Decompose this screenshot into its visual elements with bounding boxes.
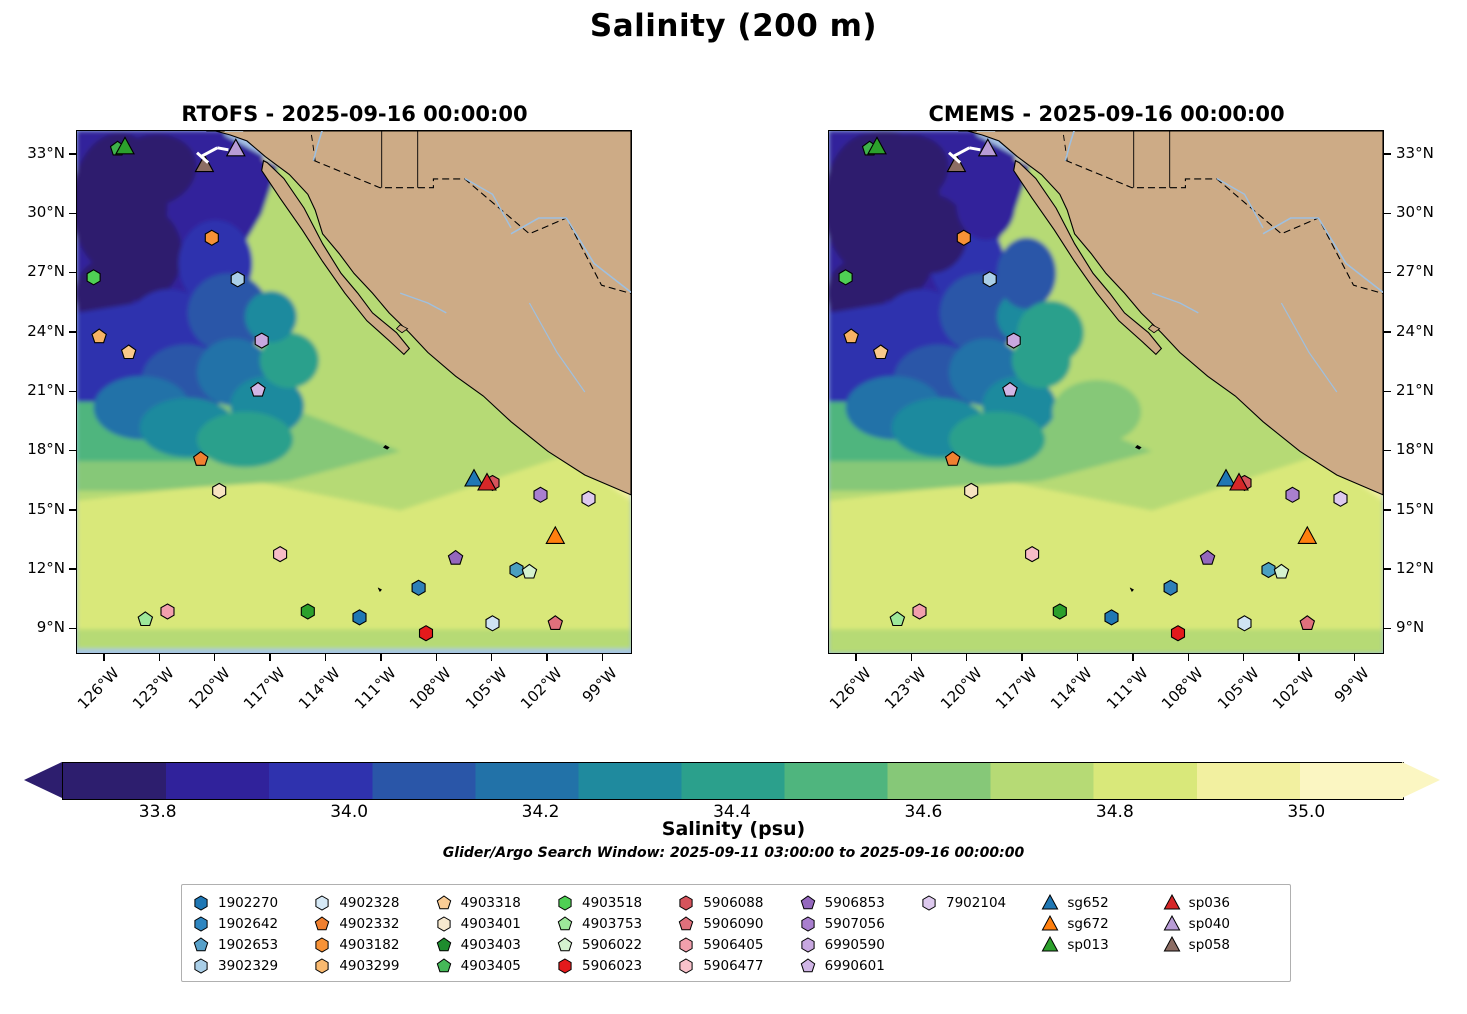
legend-item-label: 4903403 <box>461 937 521 953</box>
x-tick-label: 120°W <box>930 664 985 719</box>
y-tickmark <box>1384 331 1391 332</box>
legend-item-label: sp036 <box>1189 895 1230 911</box>
map-marker-4903182[interactable] <box>957 230 970 245</box>
legend-marker-hexagon-icon <box>675 936 697 954</box>
x-tickmark <box>1243 654 1244 661</box>
legend-item[interactable]: 6990590 <box>797 936 918 954</box>
y-tickmark <box>1384 628 1391 629</box>
legend-item[interactable]: 4903753 <box>554 915 675 933</box>
legend-marker-triangle-icon <box>1161 915 1183 933</box>
legend-item[interactable]: 4903182 <box>311 936 432 954</box>
map-marker-4903401[interactable] <box>965 483 978 498</box>
legend-item[interactable]: 5906088 <box>675 894 796 912</box>
legend-item[interactable]: 5906022 <box>554 936 675 954</box>
map-marker-1902270[interactable] <box>353 610 366 625</box>
x-tick-label: 120°W <box>178 664 233 719</box>
y-tick-label: 12°N <box>1396 559 1434 577</box>
map-marker-3902329[interactable] <box>231 272 244 287</box>
legend-item[interactable]: 1902642 <box>190 915 311 933</box>
legend-item[interactable]: 4902332 <box>311 915 432 933</box>
legend-item[interactable]: sp036 <box>1161 894 1282 912</box>
x-tick-label: 111°W <box>1096 664 1151 719</box>
legend-marker-pentagon-icon <box>554 915 576 933</box>
legend-marker-hexagon-icon <box>918 894 940 912</box>
x-tickmark <box>546 654 547 661</box>
legend-grid: 1902270190264219026533902329490232849023… <box>190 892 1282 976</box>
map-marker-1902642[interactable] <box>412 580 425 595</box>
legend-item[interactable]: 4903518 <box>554 894 675 912</box>
legend-item-label: 1902270 <box>218 895 278 911</box>
legend-marker-pentagon-icon <box>433 957 455 975</box>
x-tick-label: 114°W <box>289 664 344 719</box>
map-marker-4903403[interactable] <box>301 604 314 619</box>
legend-item[interactable]: 1902653 <box>190 936 311 954</box>
legend-marker-pentagon-icon <box>554 936 576 954</box>
map-marker-4903518[interactable] <box>839 270 852 285</box>
y-tickmark <box>1384 509 1391 510</box>
y-tickmark <box>1384 391 1391 392</box>
legend-item-label: 5906022 <box>582 937 642 953</box>
panel-title-cmems: CMEMS - 2025-09-16 00:00:00 <box>828 102 1385 126</box>
x-tick-label: 111°W <box>344 664 399 719</box>
y-tick-label: 24°N <box>1396 322 1434 340</box>
legend-marker-hexagon-icon <box>190 894 212 912</box>
y-tick-label: 9°N <box>1396 618 1424 636</box>
legend-item-label: 5906090 <box>703 916 763 932</box>
map-marker-4903401[interactable] <box>213 483 226 498</box>
y-tick-label: 27°N <box>27 262 65 280</box>
y-tick-label: 18°N <box>27 440 65 458</box>
legend-item[interactable]: 6990601 <box>797 957 918 975</box>
legend-item-label: 5906477 <box>703 958 763 974</box>
legend-item[interactable]: sp013 <box>1039 936 1160 954</box>
legend-item-label: 5906088 <box>703 895 763 911</box>
glider-track <box>217 148 228 150</box>
x-tick-label: 117°W <box>985 664 1040 719</box>
legend-item[interactable]: 4903318 <box>433 894 554 912</box>
legend-item-label: 4903753 <box>582 916 642 932</box>
y-tickmark <box>69 153 76 154</box>
map-marker-5906405[interactable] <box>161 604 174 619</box>
legend-item[interactable]: 4903405 <box>433 957 554 975</box>
legend-item-label: 5907056 <box>825 916 885 932</box>
y-tickmark <box>69 568 76 569</box>
legend-item-label: 4902328 <box>339 895 399 911</box>
legend-item-label: 4903401 <box>461 916 521 932</box>
y-tickmark <box>1384 272 1391 273</box>
x-tickmark <box>491 654 492 661</box>
x-tick-label: 108°W <box>400 664 455 719</box>
colorbar-extend-max <box>1402 762 1440 798</box>
x-tick-label: 117°W <box>233 664 288 719</box>
legend-item-label: 7902104 <box>946 895 1006 911</box>
page-title: Salinity (200 m) <box>0 8 1467 44</box>
y-tick-label: 33°N <box>27 144 65 162</box>
legend-item[interactable]: 4903401 <box>433 915 554 933</box>
map-rtofs[interactable] <box>76 130 632 654</box>
legend-item[interactable]: 5906477 <box>675 957 796 975</box>
legend-item-label: 6990601 <box>825 958 885 974</box>
legend-marker-triangle-icon <box>1161 894 1183 912</box>
legend-item[interactable]: 5906405 <box>675 936 796 954</box>
x-tickmark <box>214 654 215 661</box>
map-marker-1902642[interactable] <box>1164 580 1177 595</box>
legend-item-label: 4903182 <box>339 937 399 953</box>
legend-marker-hexagon-icon <box>554 894 576 912</box>
panel-rtofs: RTOFS - 2025-09-16 00:00:00 33°N30°N27°N… <box>76 130 633 655</box>
legend-item[interactable]: 4902328 <box>311 894 432 912</box>
legend-marker-pentagon-icon <box>433 894 455 912</box>
search-window-caption: Glider/Argo Search Window: 2025-09-11 03… <box>0 845 1467 861</box>
legend-marker-hexagon-icon <box>190 957 212 975</box>
legend-marker-hexagon-icon <box>797 936 819 954</box>
y-tickmark <box>69 509 76 510</box>
y-tickmark <box>69 391 76 392</box>
map-marker-4902328[interactable] <box>486 616 499 631</box>
legend-item[interactable]: sp040 <box>1161 915 1282 933</box>
legend-item-label: sg652 <box>1067 895 1108 911</box>
x-tick-label: 99°W <box>1318 664 1373 719</box>
legend-item-label: 4902332 <box>339 916 399 932</box>
x-tickmark <box>1132 654 1133 661</box>
y-tickmark <box>69 272 76 273</box>
x-tickmark <box>911 654 912 661</box>
x-tick-label: 105°W <box>1207 664 1262 719</box>
x-tickmark <box>1298 654 1299 661</box>
legend-marker-pentagon-icon <box>190 936 212 954</box>
x-tick-label: 108°W <box>1152 664 1207 719</box>
salinity-field <box>829 131 1383 653</box>
map-marker-5906477[interactable] <box>274 547 287 562</box>
legend-item-label: 4903299 <box>339 958 399 974</box>
legend-marker-pentagon-icon <box>797 894 819 912</box>
y-tick-label: 24°N <box>27 322 65 340</box>
panel-cmems: CMEMS - 2025-09-16 00:00:00 33°N30°N27°N… <box>828 130 1385 655</box>
y-tickmark <box>69 450 76 451</box>
legend-marker-pentagon-icon <box>311 915 333 933</box>
x-tickmark <box>380 654 381 661</box>
y-tick-label: 33°N <box>1396 144 1434 162</box>
legend-marker-triangle-icon <box>1039 894 1061 912</box>
map-marker-1902653[interactable] <box>1262 563 1275 578</box>
legend-marker-hexagon-icon <box>311 936 333 954</box>
legend: 1902270190264219026533902329490232849023… <box>181 884 1291 982</box>
legend-marker-hexagon-icon <box>675 894 697 912</box>
y-tickmark <box>1384 450 1391 451</box>
x-tickmark <box>966 654 967 661</box>
x-tickmark <box>1188 654 1189 661</box>
map-marker-5906023[interactable] <box>1172 626 1185 641</box>
legend-marker-pentagon-icon <box>433 936 455 954</box>
legend-marker-hexagon-icon <box>797 915 819 933</box>
map-marker-4903403[interactable] <box>1053 604 1066 619</box>
y-tick-label: 30°N <box>1396 203 1434 221</box>
x-tickmark <box>103 654 104 661</box>
map-marker-4903518[interactable] <box>87 270 100 285</box>
legend-item-label: 1902642 <box>218 916 278 932</box>
legend-marker-hexagon-icon <box>311 894 333 912</box>
map-cmems[interactable] <box>828 130 1384 654</box>
legend-item-label: sg672 <box>1067 916 1108 932</box>
glider-track <box>969 148 980 150</box>
colorbar-title: Salinity (psu) <box>0 818 1467 840</box>
y-tick-label: 18°N <box>1396 440 1434 458</box>
y-tickmark <box>69 331 76 332</box>
map-marker-7902104[interactable] <box>1334 491 1347 506</box>
legend-item[interactable]: 7902104 <box>918 894 1039 912</box>
legend-marker-hexagon-icon <box>554 957 576 975</box>
map-marker-1902270[interactable] <box>1105 610 1118 625</box>
x-tickmark <box>436 654 437 661</box>
legend-marker-pentagon-icon <box>797 957 819 975</box>
x-tickmark <box>602 654 603 661</box>
legend-marker-hexagon-icon <box>311 957 333 975</box>
legend-marker-hexagon-icon <box>675 957 697 975</box>
map-marker-5906477[interactable] <box>1026 547 1039 562</box>
legend-item-label: 5906405 <box>703 937 763 953</box>
legend-item-label: 4903405 <box>461 958 521 974</box>
x-tick-label: 102°W <box>1262 664 1317 719</box>
legend-marker-triangle-icon <box>1039 936 1061 954</box>
y-tickmark <box>69 213 76 214</box>
colorbar: 33.834.034.234.434.634.835.0 <box>22 762 1442 804</box>
x-tick-label: 126°W <box>819 664 874 719</box>
legend-item[interactable]: 5907056 <box>797 915 918 933</box>
map-marker-7902104[interactable] <box>582 491 595 506</box>
legend-item-label: sp040 <box>1189 916 1230 932</box>
map-marker-4903182[interactable] <box>205 230 218 245</box>
legend-item[interactable]: 5906853 <box>797 894 918 912</box>
y-tick-label: 12°N <box>27 559 65 577</box>
x-tick-label: 105°W <box>455 664 510 719</box>
legend-item-label: sp013 <box>1067 937 1108 953</box>
map-marker-6990590[interactable] <box>1007 333 1020 348</box>
y-tick-label: 15°N <box>27 500 65 518</box>
legend-item-label: 4903318 <box>461 895 521 911</box>
map-marker-6990590[interactable] <box>255 333 268 348</box>
colorbar-extend-min <box>24 762 62 798</box>
legend-item[interactable]: sg652 <box>1039 894 1160 912</box>
x-tickmark <box>1354 654 1355 661</box>
y-tick-label: 21°N <box>27 381 65 399</box>
x-tickmark <box>269 654 270 661</box>
y-tick-label: 15°N <box>1396 500 1434 518</box>
legend-item-label: 6990590 <box>825 937 885 953</box>
y-tickmark <box>1384 213 1391 214</box>
legend-marker-hexagon-icon <box>190 915 212 933</box>
x-tick-label: 102°W <box>510 664 565 719</box>
legend-item-label: 5906023 <box>582 958 642 974</box>
map-marker-1902653[interactable] <box>510 563 523 578</box>
legend-item[interactable]: 3902329 <box>190 957 311 975</box>
legend-item[interactable]: 4903403 <box>433 936 554 954</box>
x-tick-label: 99°W <box>566 664 621 719</box>
x-tickmark <box>1021 654 1022 661</box>
x-tick-label: 123°W <box>875 664 930 719</box>
y-tickmark <box>69 628 76 629</box>
salinity-field <box>77 131 631 653</box>
map-marker-5906405[interactable] <box>913 604 926 619</box>
legend-marker-triangle-icon <box>1039 915 1061 933</box>
x-tick-label: 114°W <box>1041 664 1096 719</box>
map-marker-5907056[interactable] <box>1286 487 1299 502</box>
legend-item-label: 4903518 <box>582 895 642 911</box>
legend-item-label: 5906853 <box>825 895 885 911</box>
y-tick-label: 21°N <box>1396 381 1434 399</box>
legend-item[interactable]: 1902270 <box>190 894 311 912</box>
y-tick-label: 30°N <box>27 203 65 221</box>
map-marker-4902328[interactable] <box>1238 616 1251 631</box>
legend-item[interactable]: sg672 <box>1039 915 1160 933</box>
legend-marker-triangle-icon <box>1161 936 1183 954</box>
legend-item-label: 1902653 <box>218 937 278 953</box>
legend-item[interactable]: 5906090 <box>675 915 796 933</box>
legend-item-label: sp058 <box>1189 937 1230 953</box>
legend-marker-pentagon-icon <box>675 915 697 933</box>
y-tick-label: 27°N <box>1396 262 1434 280</box>
y-tick-label: 9°N <box>37 618 65 636</box>
x-tickmark <box>159 654 160 661</box>
x-tickmark <box>325 654 326 661</box>
legend-marker-hexagon-icon <box>433 915 455 933</box>
x-tick-label: 126°W <box>67 664 122 719</box>
x-tickmark <box>1077 654 1078 661</box>
y-tickmark <box>1384 568 1391 569</box>
legend-item-label: 3902329 <box>218 958 278 974</box>
map-marker-3902329[interactable] <box>983 272 996 287</box>
legend-item[interactable]: 4903299 <box>311 957 432 975</box>
map-marker-5907056[interactable] <box>534 487 547 502</box>
y-tickmark <box>1384 153 1391 154</box>
panel-title-rtofs: RTOFS - 2025-09-16 00:00:00 <box>76 102 633 126</box>
colorbar-gradient <box>62 762 1404 800</box>
map-marker-5906023[interactable] <box>420 626 433 641</box>
legend-item[interactable]: sp058 <box>1161 936 1282 954</box>
x-tick-label: 123°W <box>123 664 178 719</box>
legend-item[interactable]: 5906023 <box>554 957 675 975</box>
x-tickmark <box>855 654 856 661</box>
